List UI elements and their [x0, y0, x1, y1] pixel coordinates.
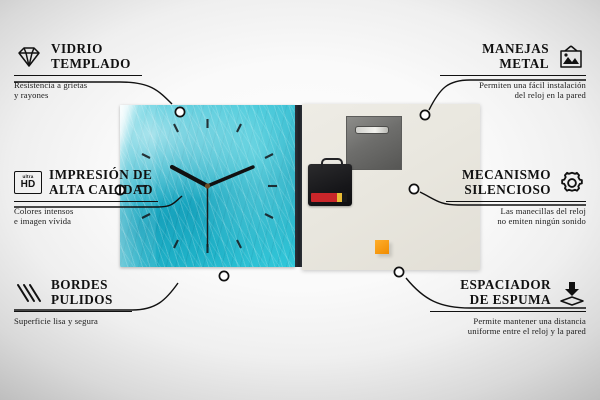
feature-bordes-pulidos: BORDES PULIDOS Superficie lisa y segura [14, 278, 132, 326]
feature-rule [440, 75, 586, 76]
feature-title-line1: ESPACIADOR [460, 278, 551, 293]
feature-rule [14, 311, 132, 312]
feature-header: VIDRIO TEMPLADO [14, 42, 142, 71]
feature-title-line1: VIDRIO [51, 42, 131, 57]
feature-desc-line2: no emiten ningún sonido [446, 216, 586, 226]
minute-hand [208, 167, 254, 186]
diamond-icon [14, 45, 44, 69]
feature-desc: Resistencia a grietas y rayones [14, 80, 142, 101]
feature-manejas-metal: MANEJAS METAL Permiten una fácil instala… [440, 42, 586, 101]
feature-title-line2: TEMPLADO [51, 57, 131, 72]
feature-mecanismo-silencioso: MECANISMO SILENCIOSO Las manecillas del … [446, 168, 586, 227]
feature-title-line2: SILENCIOSO [462, 183, 551, 198]
feature-desc-line1: Las manecillas del reloj [446, 206, 586, 216]
feature-rule [430, 311, 586, 312]
feature-header: BORDES PULIDOS [14, 278, 132, 307]
feature-rule [14, 75, 142, 76]
hanger-slot [355, 126, 389, 134]
clock-mechanism [308, 164, 352, 206]
feature-desc: Permite mantener una distancia uniforme … [430, 316, 586, 337]
feature-title: MANEJAS METAL [482, 42, 549, 71]
feature-title-line2: METAL [482, 57, 549, 72]
battery [311, 193, 347, 202]
gear-icon [558, 170, 586, 196]
feature-desc-line1: Colores intensos [14, 206, 158, 216]
clock-center-cap [205, 183, 210, 188]
metal-hanger-plate [346, 116, 402, 170]
feature-rule [14, 201, 158, 202]
feature-title-line2: PULIDOS [51, 293, 113, 308]
feature-title: BORDES PULIDOS [51, 278, 113, 307]
arrow-onto-pad-icon [558, 280, 586, 306]
feature-rule [446, 201, 586, 202]
feature-desc: Las manecillas del reloj no emiten ningú… [446, 206, 586, 227]
foam-spacer [375, 240, 389, 254]
feature-title-line2: ALTA CALIDAD [49, 183, 153, 198]
feature-desc-line1: Permite mantener una distancia [430, 316, 586, 326]
feature-desc-line1: Resistencia a grietas [14, 80, 142, 90]
diagonal-lines-icon [14, 281, 44, 305]
feature-desc-line1: Permiten una fácil instalación [440, 80, 586, 90]
feature-desc: Superficie lisa y segura [14, 316, 132, 326]
feature-title-line2: DE ESPUMA [460, 293, 551, 308]
hour-hand [172, 167, 208, 186]
feature-desc-line2: y rayones [14, 90, 142, 100]
feature-desc: Permiten una fácil instalación del reloj… [440, 80, 586, 101]
infographic-canvas: VIDRIO TEMPLADO Resistencia a grietas y … [0, 0, 600, 400]
feature-title-line1: MANEJAS [482, 42, 549, 57]
feature-vidrio-templado: VIDRIO TEMPLADO Resistencia a grietas y … [14, 42, 142, 101]
feature-title-line1: IMPRESIÓN DE [49, 168, 153, 183]
ultra-hd-icon: ultra HD [14, 171, 42, 194]
feature-espaciador-de-espuma: ESPACIADOR DE ESPUMA Permite mantener un… [430, 278, 586, 337]
product-image [120, 105, 480, 275]
mechanism-handle [321, 158, 343, 169]
feature-header: MECANISMO SILENCIOSO [446, 168, 586, 197]
feature-title: VIDRIO TEMPLADO [51, 42, 131, 71]
feature-desc-line1: Superficie lisa y segura [14, 316, 132, 326]
clock-side-edge [295, 105, 302, 267]
feature-title: ESPACIADOR DE ESPUMA [460, 278, 551, 307]
feature-desc-line2: del reloj en la pared [440, 90, 586, 100]
feature-title: MECANISMO SILENCIOSO [462, 168, 551, 197]
feature-impresion-alta-calidad: ultra HD IMPRESIÓN DE ALTA CALIDAD Color… [14, 168, 158, 227]
feature-header: MANEJAS METAL [440, 42, 586, 71]
framed-picture-icon [556, 44, 586, 70]
feature-title-line1: MECANISMO [462, 168, 551, 183]
feature-desc: Colores intensos e imagen vívida [14, 206, 158, 227]
feature-title-line1: BORDES [51, 278, 113, 293]
ultra-hd-bottom-label: HD [21, 180, 36, 190]
feature-desc-line2: e imagen vívida [14, 216, 158, 226]
feature-header: ultra HD IMPRESIÓN DE ALTA CALIDAD [14, 168, 158, 197]
feature-title: IMPRESIÓN DE ALTA CALIDAD [49, 168, 153, 197]
feature-header: ESPACIADOR DE ESPUMA [430, 278, 586, 307]
feature-desc-line2: uniforme entre el reloj y la pared [430, 326, 586, 336]
